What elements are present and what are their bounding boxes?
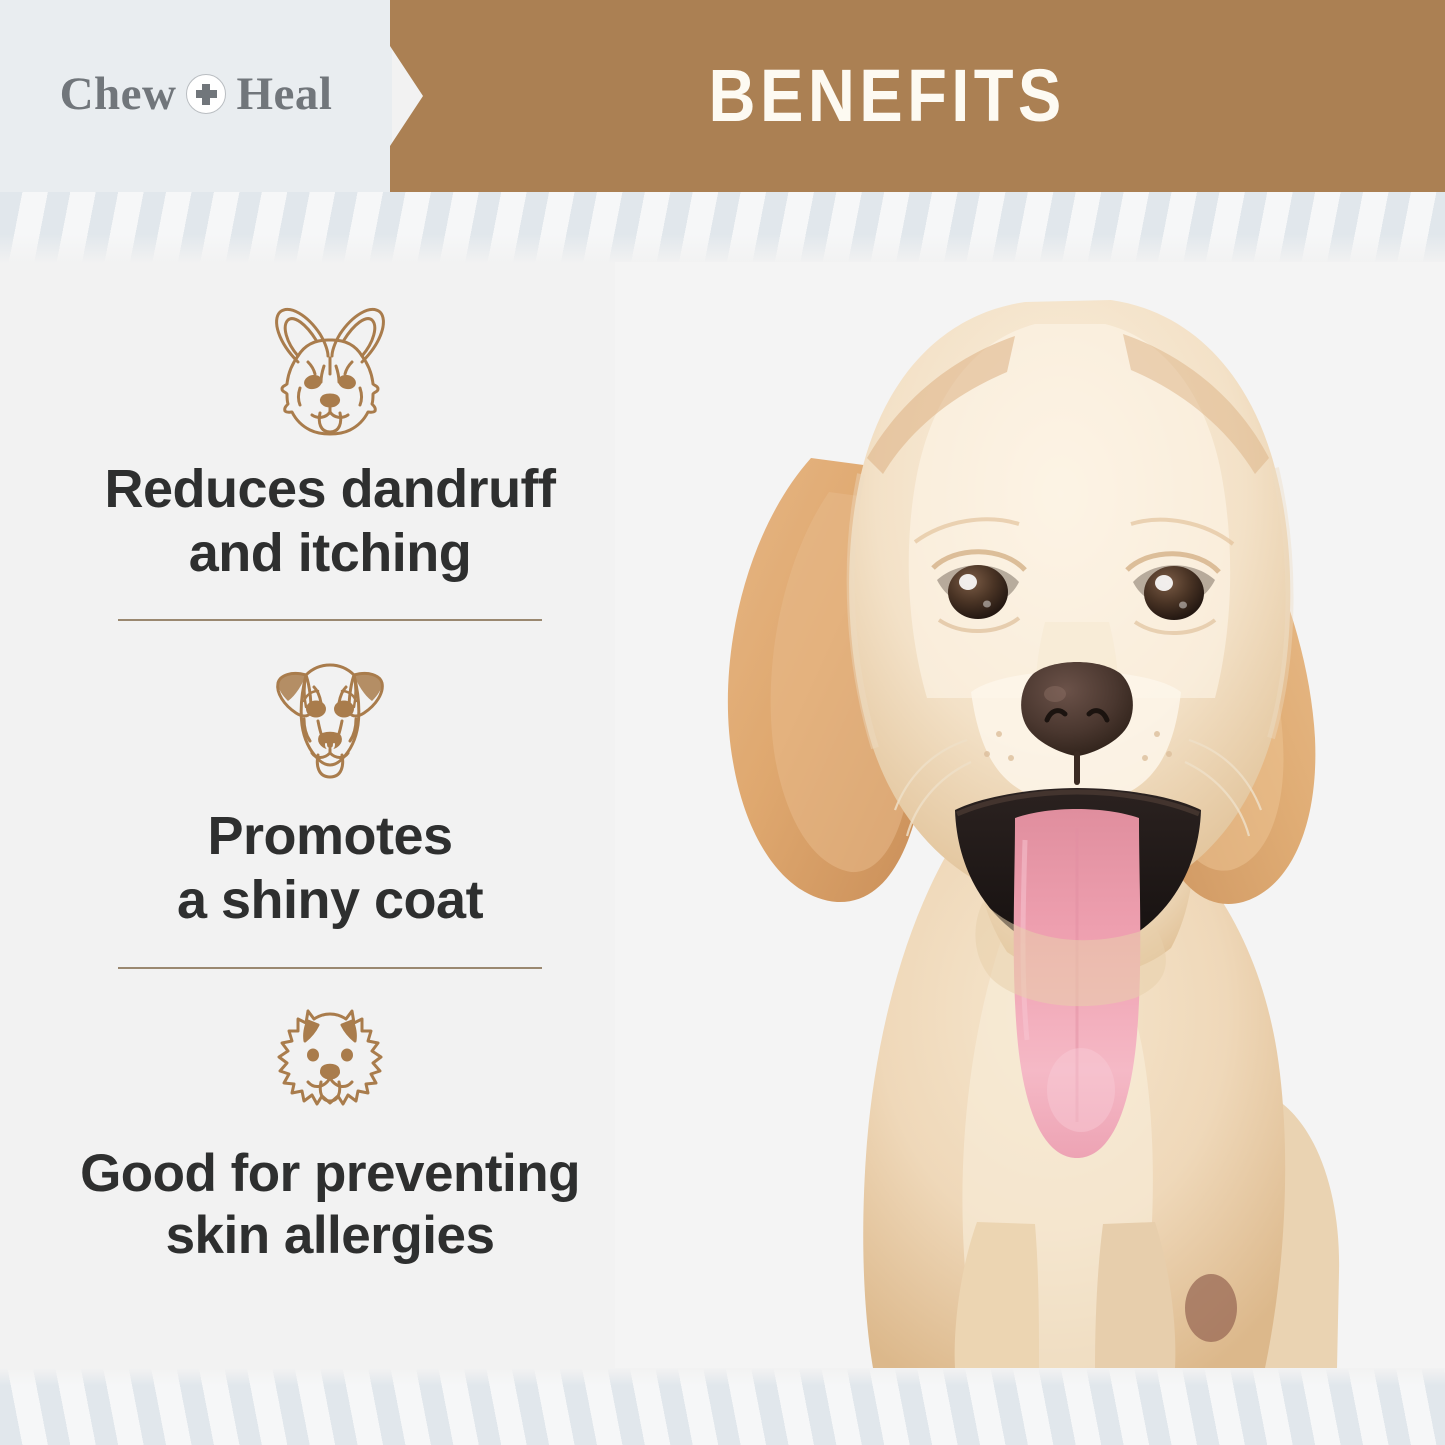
- terrier-dog-face-icon: [254, 651, 406, 787]
- benefit-label: Good for preventing skin allergies: [0, 1143, 660, 1268]
- header-banner: BENEFITS: [390, 0, 1445, 192]
- brand-logo-panel: Chew Heal: [0, 0, 392, 192]
- logo-word-heal: Heal: [236, 71, 332, 118]
- diagonal-stripe-band-top: [0, 192, 1445, 264]
- puppy-photo: [615, 262, 1445, 1368]
- benefit-label: Promotes a shiny coat: [0, 805, 660, 932]
- benefits-list: Reduces dandruff and itching: [0, 300, 660, 1268]
- medical-cross-icon: [186, 74, 226, 114]
- benefit-label: Reduces dandruff and itching: [0, 458, 660, 585]
- benefit-item: Promotes a shiny coat: [0, 651, 660, 968]
- fluffy-dog-face-icon: [258, 997, 402, 1125]
- benefit-item: Reduces dandruff and itching: [0, 300, 660, 621]
- benefits-infographic: Chew Heal BENEFITS: [0, 0, 1445, 1445]
- page-title: BENEFITS: [708, 59, 1127, 133]
- logo-word-chew: Chew: [60, 71, 177, 118]
- brand-logo: Chew Heal: [60, 71, 333, 118]
- benefit-item: Good for preventing skin allergies: [0, 997, 660, 1268]
- diagonal-stripe-band-bottom: [0, 1368, 1445, 1445]
- page-header: Chew Heal BENEFITS: [0, 0, 1445, 192]
- benefit-divider: [118, 619, 542, 621]
- corgi-dog-face-icon: [254, 300, 406, 440]
- benefit-divider: [118, 967, 542, 969]
